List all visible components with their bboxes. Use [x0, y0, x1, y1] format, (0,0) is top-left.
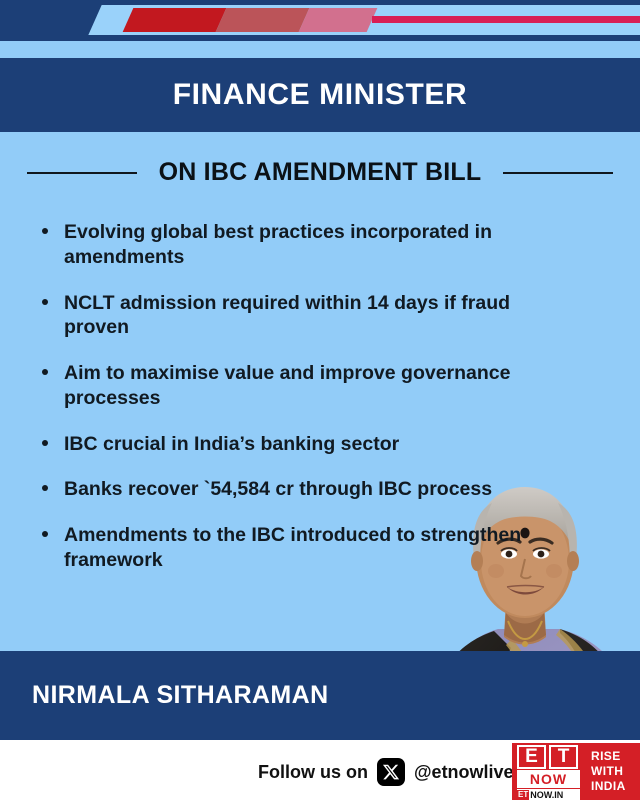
accent-rule-magenta — [372, 16, 640, 23]
subheading-text: ON IBC AMENDMENT BILL — [159, 158, 482, 187]
speaker-name-bar: NIRMALA SITHARAMAN — [0, 651, 640, 740]
accent-segment-pink — [299, 8, 378, 32]
list-item: Evolving global best practices incorpora… — [38, 220, 564, 270]
list-item-text: IBC crucial in India’s banking sector — [64, 433, 399, 455]
list-item: NCLT admission required within 14 days i… — [38, 291, 564, 341]
speaker-name: NIRMALA SITHARAMAN — [32, 681, 329, 710]
light-blue-strip — [0, 41, 640, 58]
etnow-tagline-line2: WITH — [591, 764, 640, 779]
bullet-dot-icon — [42, 440, 48, 446]
etnow-domain-suffix: NOW.IN — [529, 790, 563, 800]
list-item: IBC crucial in India’s banking sector — [38, 432, 564, 457]
social-handle[interactable]: @etnowlive — [414, 762, 514, 783]
etnow-tagline-line3: INDIA — [591, 779, 640, 794]
etnow-logo-mark: E T NOW ET NOW.IN — [512, 743, 584, 800]
top-decorative-band — [0, 0, 640, 41]
etnow-domain-row: ET NOW.IN — [517, 789, 580, 800]
etnow-letter-e: E — [517, 745, 546, 769]
etnow-now-text: NOW — [517, 770, 580, 788]
list-item-text: Aim to maximise value and improve govern… — [64, 362, 511, 409]
accent-segment-muted-red — [216, 8, 310, 32]
bullet-dot-icon — [42, 369, 48, 375]
bullet-dot-icon — [42, 299, 48, 305]
subheading-row: ON IBC AMENDMENT BILL — [0, 158, 640, 187]
list-item: Banks recover `54,584 cr through IBC pro… — [38, 477, 564, 502]
list-item-text: Evolving global best practices incorpora… — [64, 221, 492, 268]
list-item-text: NCLT admission required within 14 days i… — [64, 292, 510, 339]
infographic-card: FINANCE MINISTER — [0, 0, 640, 800]
header-title-bar: FINANCE MINISTER — [0, 58, 640, 132]
etnow-logo[interactable]: E T NOW ET NOW.IN RISE WITH INDIA — [512, 743, 640, 800]
x-twitter-icon[interactable] — [377, 758, 405, 786]
list-item-text: Amendments to the IBC introduced to stre… — [64, 524, 521, 571]
etnow-et-row: E T — [517, 745, 584, 769]
list-item: Aim to maximise value and improve govern… — [38, 361, 564, 411]
etnow-tagline: RISE WITH INDIA — [584, 743, 640, 800]
subheading-rule-right — [503, 172, 613, 174]
etnow-letter-t: T — [549, 745, 578, 769]
bullet-dot-icon — [42, 531, 48, 537]
list-item: Amendments to the IBC introduced to stre… — [38, 523, 564, 573]
page-title: FINANCE MINISTER — [173, 78, 468, 112]
bullet-dot-icon — [42, 485, 48, 491]
bullet-list: Evolving global best practices incorpora… — [38, 220, 608, 594]
accent-segment-red — [123, 8, 227, 32]
follow-us-label: Follow us on — [258, 762, 368, 783]
etnow-tagline-line1: RISE — [591, 749, 640, 764]
bullet-dot-icon — [42, 228, 48, 234]
follow-us-row: Follow us on @etnowlive — [258, 758, 514, 786]
subheading-rule-left — [27, 172, 137, 174]
list-item-text: Banks recover `54,584 cr through IBC pro… — [64, 478, 492, 500]
etnow-domain-prefix: ET — [517, 790, 529, 800]
